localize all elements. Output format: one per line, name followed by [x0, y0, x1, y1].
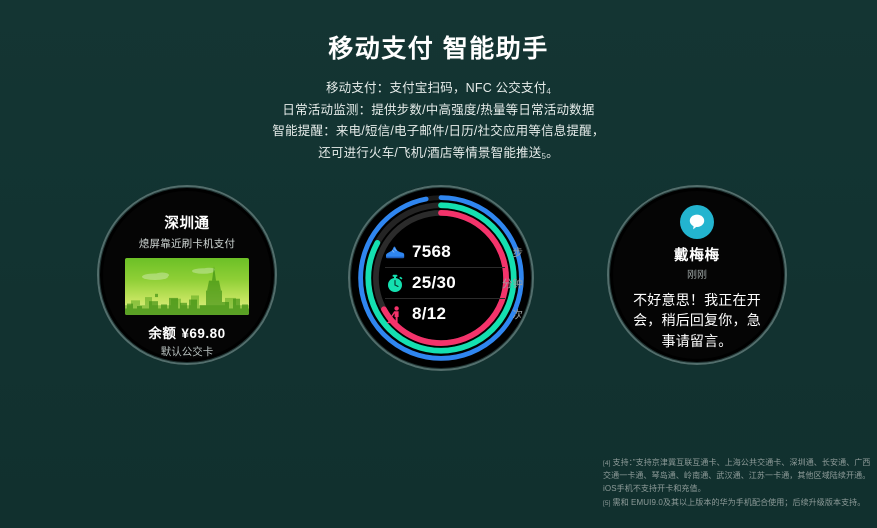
intensity-value: 25/30	[412, 273, 456, 293]
message-timestamp: 刚刚	[687, 266, 707, 281]
speech-bubble-icon	[687, 212, 707, 232]
subtitle-line-3: 智能提醒：来电/短信/电子邮件/日历/社交应用等信息提醒，	[0, 121, 877, 143]
watch-fitness-screen: 7568 步 25/30 分钟	[352, 189, 530, 367]
stopwatch-icon	[385, 273, 405, 293]
subtitle-line-4: 还可进行火车/飞机/酒店等情景智能推送5。	[0, 143, 877, 165]
intensity-unit: 分钟	[502, 276, 523, 291]
balance-line: 余额¥69.80	[148, 322, 225, 342]
watch-payment-content: 深圳通 熄屏靠近刷卡机支付	[103, 191, 271, 359]
subtitle-line-4-text: 还可进行火车/飞机/酒店等情景智能推送	[318, 146, 541, 160]
subtitle-line-1-superscript: 4	[546, 87, 551, 96]
city-skyline-icon	[125, 258, 249, 315]
subtitle-line-4-tail: 。	[546, 146, 559, 160]
stat-row-stand: 8/12 次	[385, 298, 505, 329]
balance-label: 余额	[148, 326, 176, 341]
default-card-note: 默认公交卡	[161, 344, 214, 359]
message-body: 不好意思！我正在开会，稍后回复你，急事请留言。	[633, 290, 761, 351]
footnote-5: [5]需和 EMUI9.0及其以上版本的华为手机配合使用；后续升级版本支持。	[603, 497, 871, 510]
watch-message-content: 戴梅梅 刚刚 不好意思！我正在开会，稍后回复你，急事请留言。	[613, 191, 781, 359]
subtitle-line-4-superscript: 5	[541, 152, 546, 161]
footnotes: [4]支持：”支持京津冀互联互通卡、上海公共交通卡、深圳通、长安通、广西交通一卡…	[603, 457, 871, 511]
watch-fitness[interactable]: 7568 步 25/30 分钟	[348, 185, 534, 371]
avatar	[680, 205, 714, 239]
subtitle-line-2: 日常活动监测：提供步数/中高强度/热量等日常活动数据	[0, 100, 877, 122]
sender-name: 戴梅梅	[674, 244, 720, 265]
city-skyline-card	[125, 258, 249, 315]
standing-person-icon	[385, 304, 405, 324]
footnote-4: [4]支持：”支持京津冀互联互通卡、上海公共交通卡、深圳通、长安通、广西交通一卡…	[603, 457, 871, 496]
watch-message[interactable]: 戴梅梅 刚刚 不好意思！我正在开会，稍后回复你，急事请留言。	[607, 185, 787, 365]
footnote-4-mark: [4]	[603, 460, 611, 467]
watch-payment[interactable]: 深圳通 熄屏靠近刷卡机支付	[97, 185, 277, 365]
watch-payment-screen: 深圳通 熄屏靠近刷卡机支付	[103, 191, 271, 359]
stat-row-intensity: 25/30 分钟	[385, 267, 505, 298]
subtitle-line-2-text: 日常活动监测：提供步数/中高强度/热量等日常活动数据	[282, 103, 594, 117]
stand-unit: 次	[513, 307, 524, 322]
stand-value: 8/12	[412, 304, 446, 324]
watch-message-screen: 戴梅梅 刚刚 不好意思！我正在开会，稍后回复你，急事请留言。	[613, 191, 781, 359]
header: 移动支付 智能助手 移动支付：支付宝扫码，NFC 公交支付4 日常活动监测：提供…	[0, 34, 877, 164]
balance-value: ¥69.80	[181, 326, 225, 341]
subtitle-line-1: 移动支付：支付宝扫码，NFC 公交支付4	[0, 78, 877, 100]
footnote-5-mark: [5]	[603, 500, 611, 507]
fitness-stats: 7568 步 25/30 分钟	[385, 237, 505, 329]
transit-card-title: 深圳通	[164, 212, 209, 233]
footnote-5-text: 需和 EMUI9.0及其以上版本的华为手机配合使用；后续升级版本支持。	[613, 498, 866, 507]
running-shoe-icon	[385, 242, 405, 262]
footnote-4-text: 支持：”支持京津冀互联互通卡、上海公共交通卡、深圳通、长安通、广西交通一卡通、琴…	[603, 458, 871, 493]
page-background: 移动支付 智能助手 移动支付：支付宝扫码，NFC 公交支付4 日常活动监测：提供…	[0, 0, 877, 528]
subtitle-line-1-text: 移动支付：支付宝扫码，NFC 公交支付	[326, 81, 546, 95]
steps-value: 7568	[412, 242, 451, 262]
subtitle-line-3-text: 智能提醒：来电/短信/电子邮件/日历/社交应用等信息提醒，	[272, 124, 604, 138]
subtitle-block: 移动支付：支付宝扫码，NFC 公交支付4 日常活动监测：提供步数/中高强度/热量…	[0, 78, 877, 164]
page-title: 移动支付 智能助手	[0, 34, 877, 64]
stat-row-steps: 7568 步	[385, 237, 505, 267]
transit-card-subtitle: 熄屏靠近刷卡机支付	[139, 236, 235, 251]
steps-unit: 步	[513, 245, 524, 260]
